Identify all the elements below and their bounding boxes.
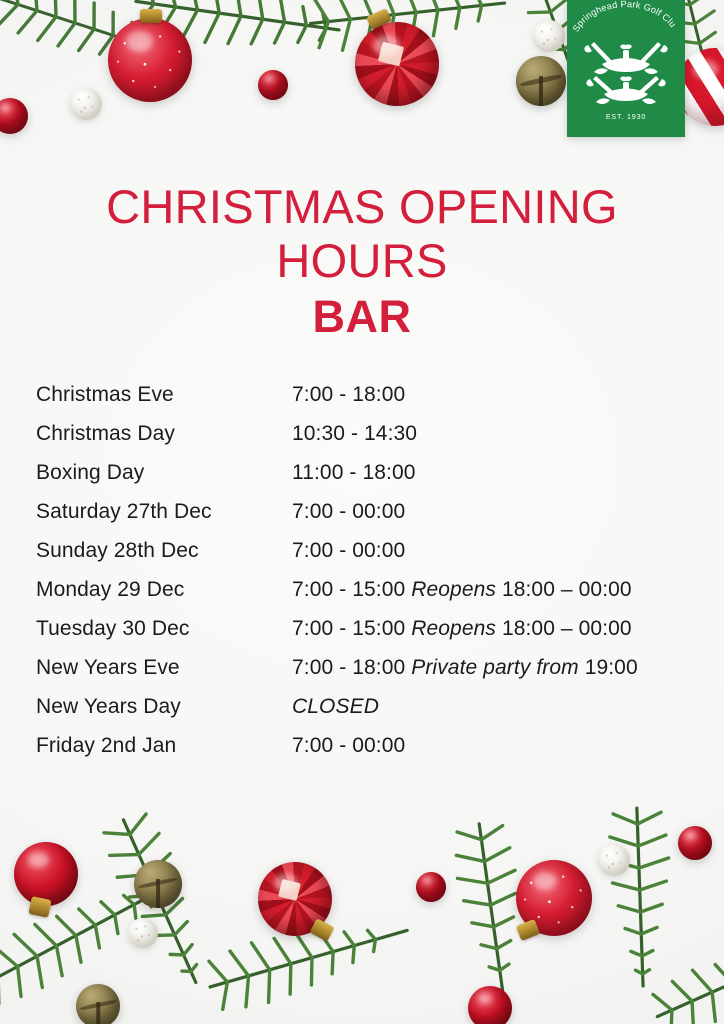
opening-hours-row: Sunday 28th Dec7:00 - 00:00 xyxy=(36,539,708,578)
hours-value: 7:00 - 00:00 xyxy=(292,734,405,758)
day-label: Boxing Day xyxy=(36,461,292,485)
club-logo: Springhead Park Golf Club xyxy=(567,0,685,137)
hours-value: 7:00 - 18:00 xyxy=(292,383,405,407)
hours-value: 7:00 - 15:00 Reopens 18:00 – 00:00 xyxy=(292,617,632,641)
hours-value: 11:00 - 18:00 xyxy=(292,461,416,485)
golf-crown-crest-icon xyxy=(578,34,674,110)
hours-note: Private party from xyxy=(411,656,579,679)
opening-hours-row: Tuesday 30 Dec7:00 - 15:00 Reopens 18:00… xyxy=(36,617,708,656)
hours-value: 7:00 - 18:00 Private party from 19:00 xyxy=(292,656,638,680)
christmas-opening-hours-poster: Springhead Park Golf Club xyxy=(0,0,724,1024)
hours-note-range: 18:00 – 00:00 xyxy=(502,578,632,601)
hours-value: 7:00 - 00:00 xyxy=(292,539,405,563)
page-title-line1: CHRISTMAS OPENING xyxy=(0,180,724,234)
day-label: Saturday 27th Dec xyxy=(36,500,292,524)
day-label: New Years Day xyxy=(36,695,292,719)
day-label: New Years Eve xyxy=(36,656,292,680)
poster-heading-block: CHRISTMAS OPENING HOURS BAR xyxy=(0,180,724,344)
hours-range: 7:00 - 00:00 xyxy=(292,500,405,523)
hours-note-range: 18:00 – 00:00 xyxy=(502,617,632,640)
page-subtitle-bar: BAR xyxy=(0,290,724,344)
hours-note: CLOSED xyxy=(292,695,379,718)
hours-range: 7:00 - 18:00 xyxy=(292,383,405,406)
opening-hours-row: New Years Eve7:00 - 18:00 Private party … xyxy=(36,656,708,695)
page-title-line2: HOURS xyxy=(0,234,724,288)
hours-range: 7:00 - 00:00 xyxy=(292,539,405,562)
hours-range: 11:00 - 18:00 xyxy=(292,461,416,484)
day-label: Sunday 28th Dec xyxy=(36,539,292,563)
hours-note: Reopens xyxy=(411,578,496,601)
hours-range: 10:30 - 14:30 xyxy=(292,422,417,445)
club-name-arc: Springhead Park Golf Club xyxy=(567,0,685,34)
hours-value: 10:30 - 14:30 xyxy=(292,422,417,446)
logo-established-text: EST. 1930 xyxy=(606,112,646,121)
opening-hours-row: New Years DayCLOSED xyxy=(36,695,708,734)
hours-range: 7:00 - 00:00 xyxy=(292,734,405,757)
day-label: Tuesday 30 Dec xyxy=(36,617,292,641)
hours-note-range: 19:00 xyxy=(585,656,638,679)
opening-hours-row: Friday 2nd Jan7:00 - 00:00 xyxy=(36,734,708,773)
hours-range: 7:00 - 15:00 xyxy=(292,578,405,601)
hours-range: 7:00 - 15:00 xyxy=(292,617,405,640)
day-label: Friday 2nd Jan xyxy=(36,734,292,758)
hours-note: Reopens xyxy=(411,617,496,640)
club-name-text: Springhead Park Golf Club xyxy=(567,0,678,34)
opening-hours-row: Christmas Eve7:00 - 18:00 xyxy=(36,383,708,422)
opening-hours-row: Boxing Day11:00 - 18:00 xyxy=(36,461,708,500)
opening-hours-row: Christmas Day10:30 - 14:30 xyxy=(36,422,708,461)
opening-hours-row: Saturday 27th Dec7:00 - 00:00 xyxy=(36,500,708,539)
day-label: Christmas Eve xyxy=(36,383,292,407)
opening-hours-list: Christmas Eve7:00 - 18:00Christmas Day10… xyxy=(36,383,708,773)
hours-value: 7:00 - 15:00 Reopens 18:00 – 00:00 xyxy=(292,578,632,602)
hours-value: 7:00 - 00:00 xyxy=(292,500,405,524)
hours-value: CLOSED xyxy=(292,695,379,719)
day-label: Monday 29 Dec xyxy=(36,578,292,602)
hours-range: 7:00 - 18:00 xyxy=(292,656,405,679)
day-label: Christmas Day xyxy=(36,422,292,446)
opening-hours-row: Monday 29 Dec7:00 - 15:00 Reopens 18:00 … xyxy=(36,578,708,617)
